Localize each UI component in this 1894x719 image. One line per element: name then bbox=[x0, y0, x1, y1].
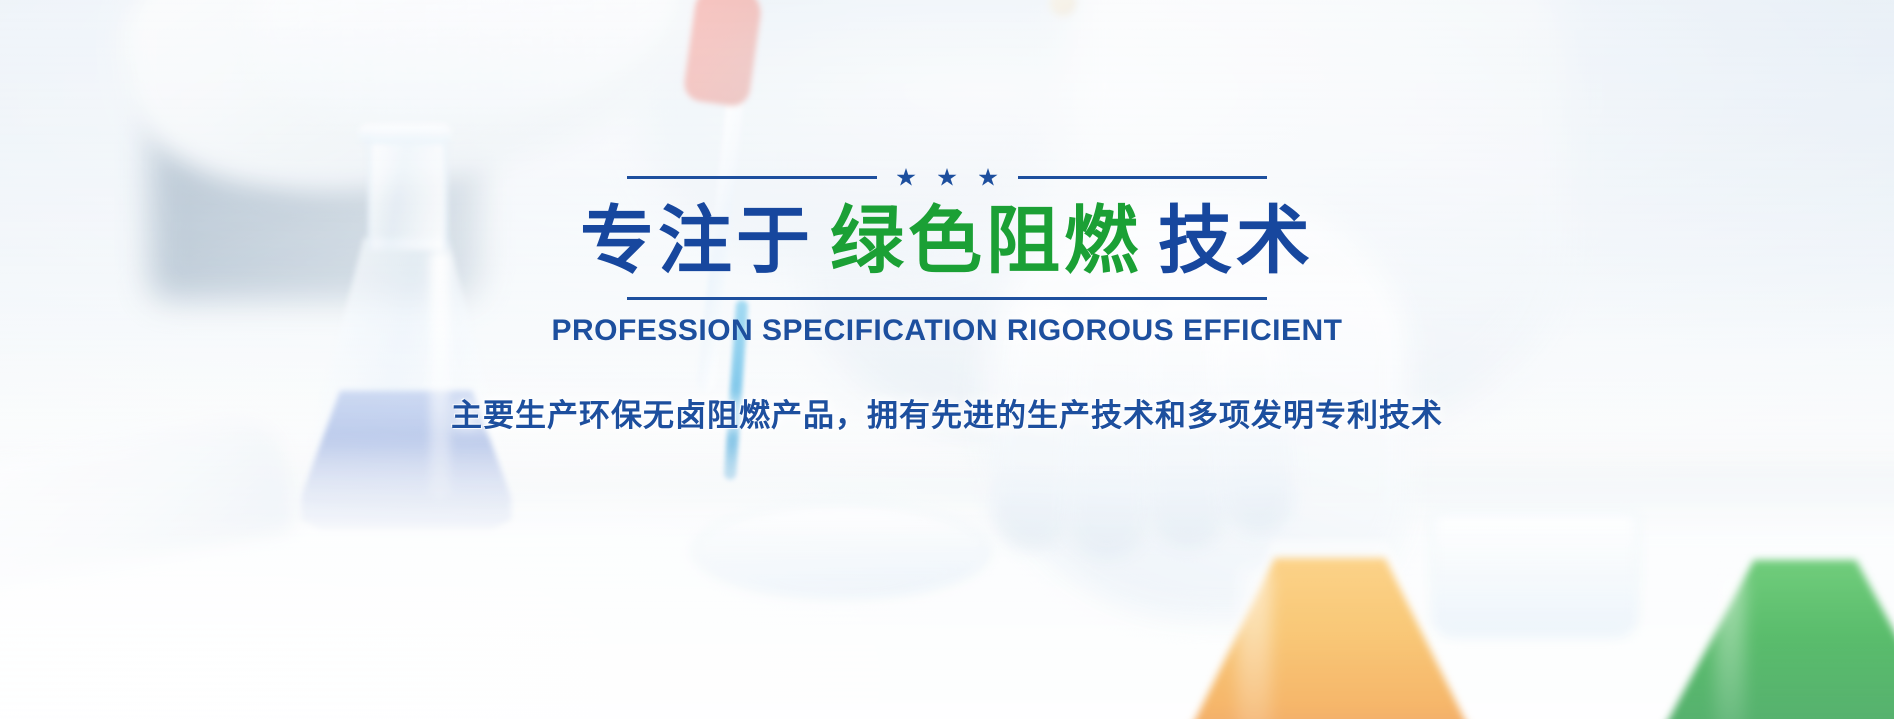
decorative-rule-bottom bbox=[627, 297, 1267, 300]
headline-part-1: 专注于 bbox=[580, 201, 814, 281]
headline-part-3: 技术 bbox=[1158, 201, 1314, 281]
star-icon bbox=[979, 168, 998, 187]
tagline: 主要生产环保无卤阻燃产品，拥有先进的生产技术和多项发明专利技术 bbox=[451, 390, 1443, 435]
hero-banner: 专注于 绿色阻燃 技术 PROFESSION SPECIFICATION RIG… bbox=[0, 0, 1894, 719]
rule-right bbox=[1018, 176, 1268, 179]
decorative-rule-top bbox=[627, 168, 1267, 187]
banner-content: 专注于 绿色阻燃 技术 PROFESSION SPECIFICATION RIG… bbox=[0, 0, 1894, 719]
headline-part-2: 绿色阻燃 bbox=[830, 201, 1142, 281]
star-icon bbox=[938, 168, 957, 187]
rule-left bbox=[627, 176, 877, 179]
star-icon bbox=[897, 168, 916, 187]
headline: 专注于 绿色阻燃 技术 bbox=[580, 201, 1314, 281]
stars-group bbox=[877, 168, 1018, 187]
subtitle: PROFESSION SPECIFICATION RIGOROUS EFFICI… bbox=[552, 314, 1343, 348]
